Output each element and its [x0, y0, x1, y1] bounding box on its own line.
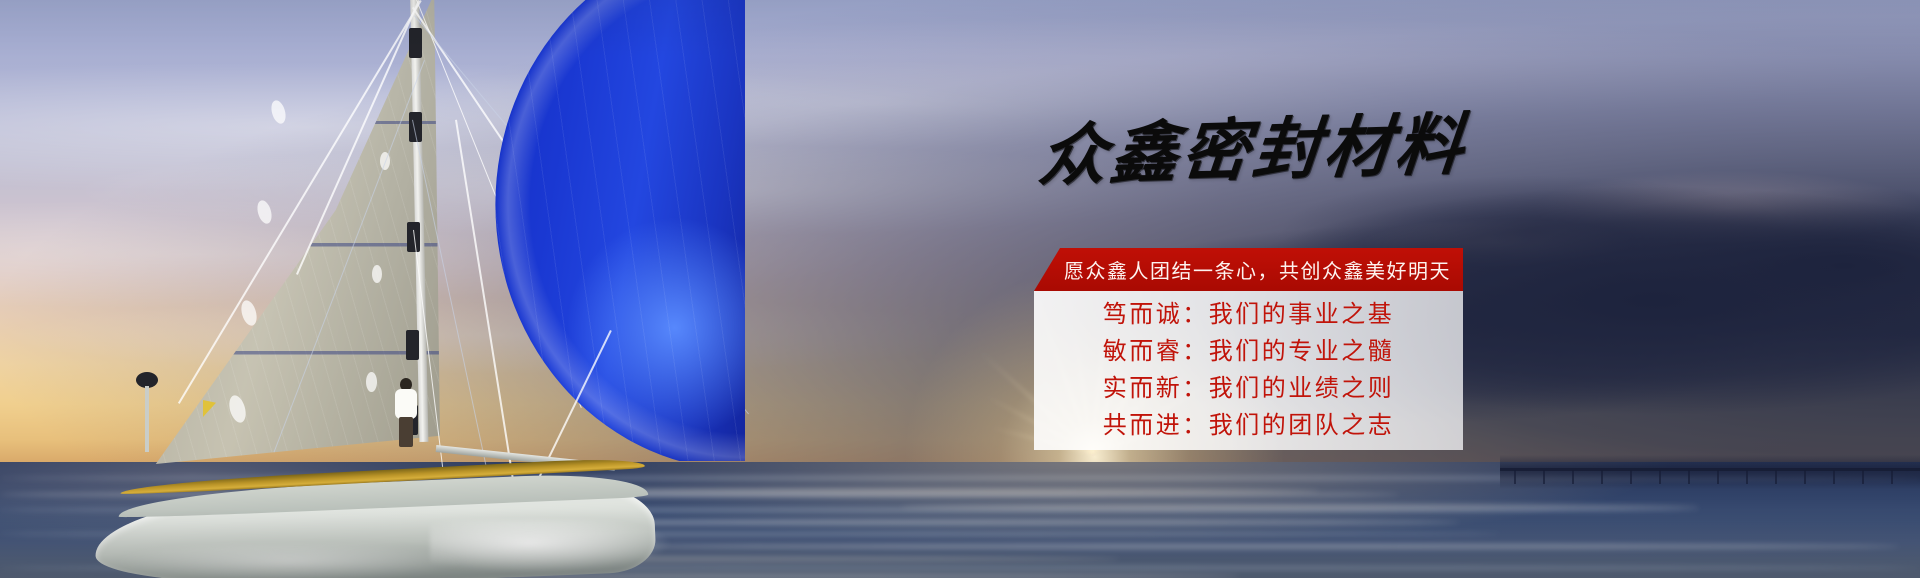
value-line-4: 共而进：我们的团队之志 — [1103, 410, 1395, 442]
values-list: 笃而诚：我们的事业之基 敏而睿：我们的专业之髓 实而新：我们的业绩之则 共而进：… — [1034, 291, 1463, 450]
value-line-1: 笃而诚：我们的事业之基 — [1103, 299, 1395, 331]
value-line-2: 敏而睿：我们的专业之髓 — [1103, 336, 1395, 368]
slogan-ribbon: 愿众鑫人团结一条心，共创众鑫美好明天 — [1034, 248, 1463, 291]
company-title: 众鑫密封材料 — [1036, 112, 1484, 191]
value-line-3: 实而新：我们的业绩之则 — [1103, 373, 1395, 405]
slogan-ribbon-text: 愿众鑫人团结一条心，共创众鑫美好明天 — [1046, 255, 1451, 284]
banner-text-block: 众鑫密封材料 愿众鑫人团结一条心，共创众鑫美好明天 笃而诚：我们的事业之基 敏而… — [0, 0, 1920, 578]
hero-banner: 众鑫密封材料 愿众鑫人团结一条心，共创众鑫美好明天 笃而诚：我们的事业之基 敏而… — [0, 0, 1920, 578]
